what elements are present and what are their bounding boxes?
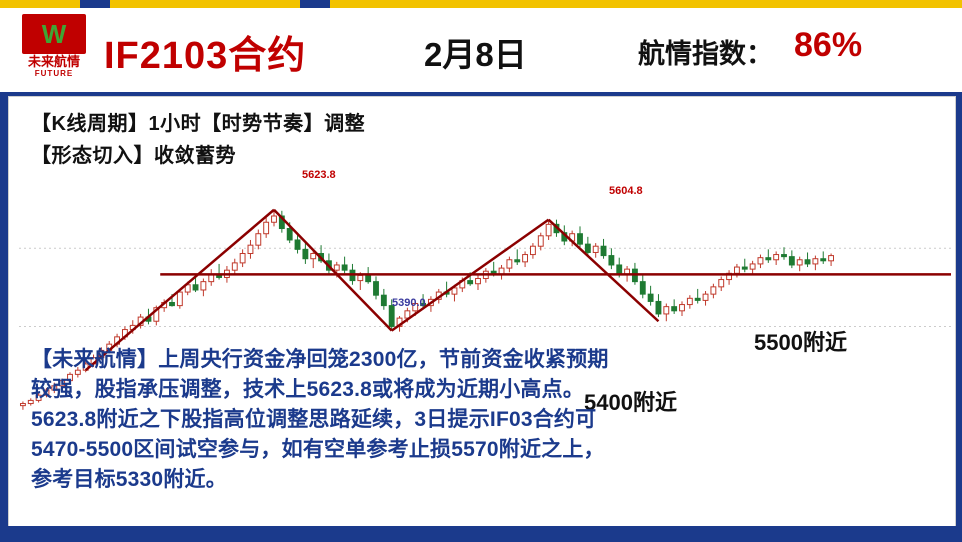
commentary-block: 【未来航情】上周央行资金净回笼2300亿，节前资金收紧预期 较强，股指承压调整，… [31,345,931,495]
page-title: IF2103合约 [104,24,306,79]
strip-gap-1 [80,0,110,8]
logo-mark-icon: W [22,14,86,54]
strip-gap-2 [300,0,330,8]
commentary-line-5: 参考目标5330附近。 [31,465,931,495]
annotation-peak-5604: 5604.8 [609,185,643,197]
annotation-peak-5623: 5623.8 [302,169,336,181]
commentary-line-2: 较强，股指承压调整，技术上5623.8或将成为近期小高点。 [31,375,931,405]
annotation-low-5390: 5390.0 [392,297,426,309]
logo-letter: W [30,20,78,48]
footer-bar [0,526,962,542]
logo-name-cn: 未来航情 [28,55,80,69]
note-line-2: 【形态切入】收敛蓄势 [31,139,236,168]
brand-logo: W 未来航情 FUTURE [16,14,92,84]
header-date: 2月8日 [424,28,527,76]
top-accent-strip [0,0,962,8]
commentary-line-1: 【未来航情】上周央行资金净回笼2300亿，节前资金收紧预期 [31,345,931,375]
index-label: 航情指数： [638,32,773,71]
note-line-1: 【K线周期】1小时【时势节奏】调整 [31,107,365,136]
content-panel: 【K线周期】1小时【时势节奏】调整 【形态切入】收敛蓄势 5500附近 5400… [8,96,956,528]
header-bar: W 未来航情 FUTURE IF2103合约 2月8日 航情指数： 86% [0,8,962,92]
index-value: 86% [794,26,862,65]
commentary-line-3: 5623.8附近之下股指高位调整思路延续，3日提示IF03合约可 [31,405,931,435]
logo-name-en: FUTURE [35,69,73,78]
commentary-line-4: 5470-5500区间试空参与，如有空单参考止损5570附近之上， [31,435,931,465]
slide-root: W 未来航情 FUTURE IF2103合约 2月8日 航情指数： 86% 【K… [0,0,962,542]
